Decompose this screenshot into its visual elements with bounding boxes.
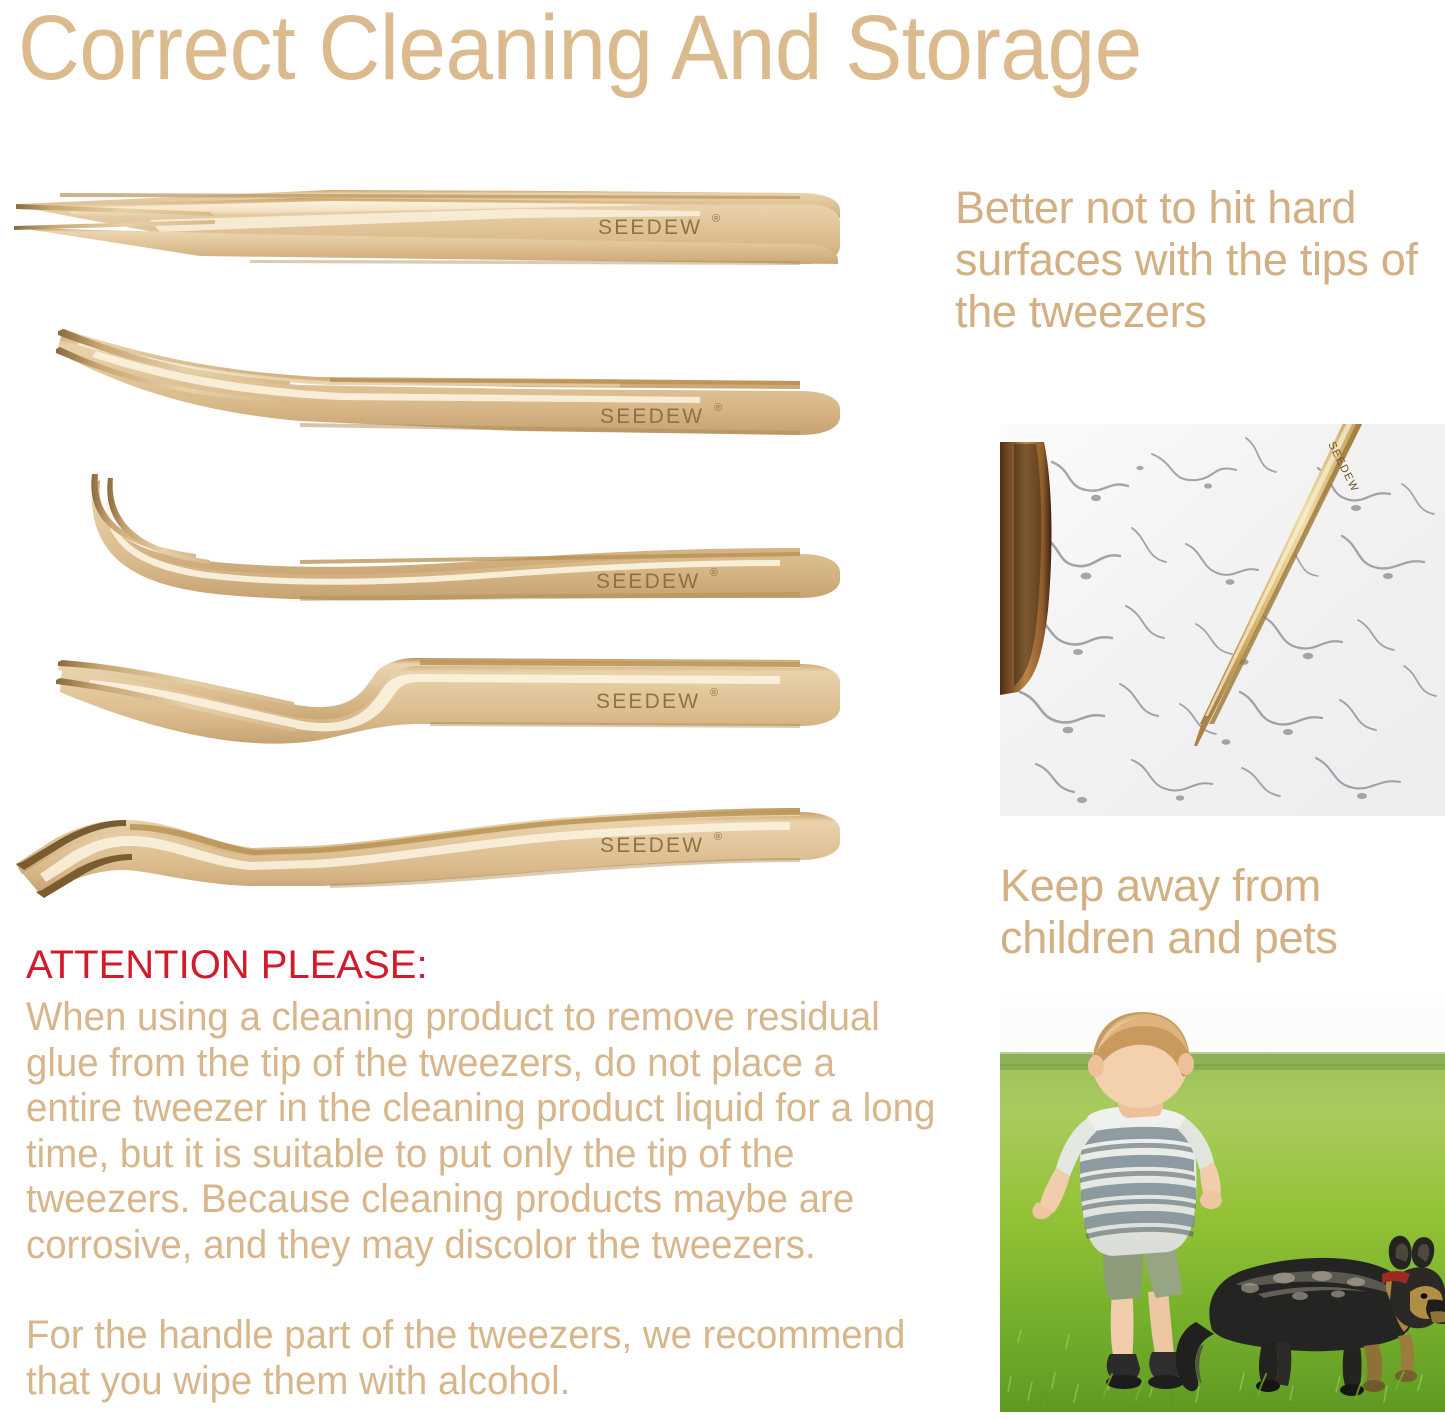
tweezer-row-2: SEEDEW ® xyxy=(0,305,880,455)
page-title: Correct Cleaning And Storage xyxy=(18,0,1339,98)
attention-paragraph-1: When using a cleaning product to remove … xyxy=(26,995,938,1268)
tweezer-on-marble-photo: SEEDEW xyxy=(1000,424,1445,816)
tweezer-illustration-group: SEEDEW ® SEEDEW ® xyxy=(0,160,880,920)
curved-hook-tweezer: SEEDEW ® xyxy=(0,460,880,610)
tweezer-row-3: SEEDEW ® xyxy=(0,460,880,610)
infographic-page: Correct Cleaning And Storage xyxy=(0,0,1445,1418)
brand-trademark-mark: ® xyxy=(710,567,718,579)
child-and-dog-photo xyxy=(1000,992,1445,1412)
angled-45-tweezer: SEEDEW ® xyxy=(0,305,880,455)
brand-logo: SEEDEW xyxy=(600,405,704,428)
brand-trademark-mark: ® xyxy=(714,831,722,843)
attention-heading: ATTENTION PLEASE: xyxy=(26,942,428,988)
attention-body: When using a cleaning product to remove … xyxy=(26,995,938,1404)
caption-keep-away: Keep away from children and pets xyxy=(1000,860,1445,964)
brand-trademark-mark: ® xyxy=(712,213,720,225)
child-photo-description: Toddler in striped shirt walking on gras… xyxy=(0,0,1,1)
straight-point-tweezer: SEEDEW ® xyxy=(0,160,880,310)
attention-paragraph-2: For the handle part of the tweezers, we … xyxy=(26,1313,938,1404)
tweezer-row-5: SEEDEW ® xyxy=(0,790,880,940)
curved-tip-tweezer: SEEDEW ® xyxy=(0,638,880,788)
brand-trademark-mark: ® xyxy=(714,402,722,414)
boot-l-shape-tweezer: SEEDEW ® xyxy=(0,790,880,940)
brand-logo: SEEDEW xyxy=(596,570,700,593)
tweezer-row-1: SEEDEW ® xyxy=(0,160,880,310)
tweezer-row-4: SEEDEW ® xyxy=(0,638,880,788)
caption-hard-surfaces: Better not to hit hard surfaces with the… xyxy=(955,182,1445,338)
brand-logo: SEEDEW xyxy=(600,834,704,857)
marble-photo-description: Gold tweezer lying on white marble count… xyxy=(0,0,1,1)
brand-trademark-mark: ® xyxy=(710,687,718,699)
brand-logo: SEEDEW xyxy=(598,216,702,239)
brand-logo: SEEDEW xyxy=(596,690,700,713)
